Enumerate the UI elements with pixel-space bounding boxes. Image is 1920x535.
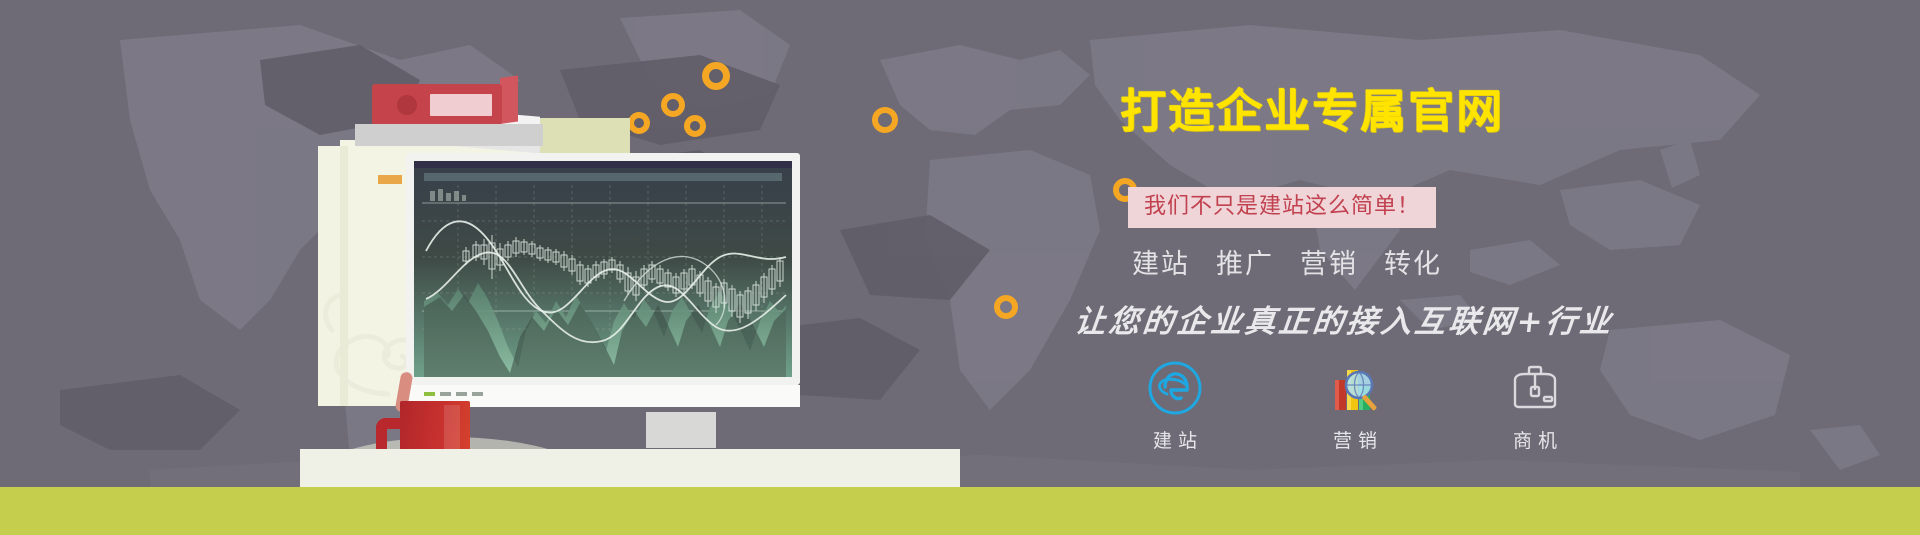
keyword-item: 转化 — [1384, 242, 1442, 281]
feature-item-yingxiao[interactable]: 营销 — [1300, 358, 1410, 453]
keyword-item: 推广 — [1216, 242, 1274, 281]
feature-list: 建站 营销 — [1120, 358, 1590, 453]
keyword-list: 建站 推广 营销 转化 — [1132, 242, 1442, 281]
monitor-stand — [646, 412, 716, 448]
briefcase-icon — [1480, 358, 1590, 418]
feature-label: 建站 — [1120, 426, 1230, 453]
keyword-item: 建站 — [1132, 242, 1190, 281]
paper-stack — [355, 124, 543, 146]
feature-label: 营销 — [1300, 426, 1410, 453]
feature-label: 商机 — [1480, 426, 1590, 453]
keyword-item: 营销 — [1300, 242, 1358, 281]
desktop-monitor — [406, 153, 800, 385]
binder-spine — [500, 75, 518, 124]
map-marker-ring — [994, 295, 1018, 319]
feature-item-shangji[interactable]: 商机 — [1480, 358, 1590, 453]
hero-copy: 打造企业专属官网 我们不只是建站这么简单！ 建站 推广 营销 转化 让您的企业真… — [1090, 0, 1690, 535]
chart-magnifier-icon — [1300, 358, 1410, 418]
subtitle-badge: 我们不只是建站这么简单！ — [1128, 187, 1436, 228]
monitor-led-indicators — [424, 392, 483, 396]
hero-banner: 打造企业专属官网 我们不只是建站这么简单！ 建站 推广 营销 转化 让您的企业真… — [0, 0, 1920, 535]
ie-browser-icon — [1120, 358, 1230, 418]
monitor-screen — [414, 161, 792, 377]
feature-item-jianzhan[interactable]: 建站 — [1120, 358, 1230, 453]
binder-ring-dot — [397, 95, 417, 115]
desk-surface — [300, 449, 960, 487]
page-title: 打造企业专属官网 — [1120, 88, 1504, 134]
tagline-script: 让您的企业真正的接入互联网+行业 — [1073, 296, 1617, 341]
binder-label — [430, 94, 492, 116]
book-tag — [378, 175, 402, 184]
